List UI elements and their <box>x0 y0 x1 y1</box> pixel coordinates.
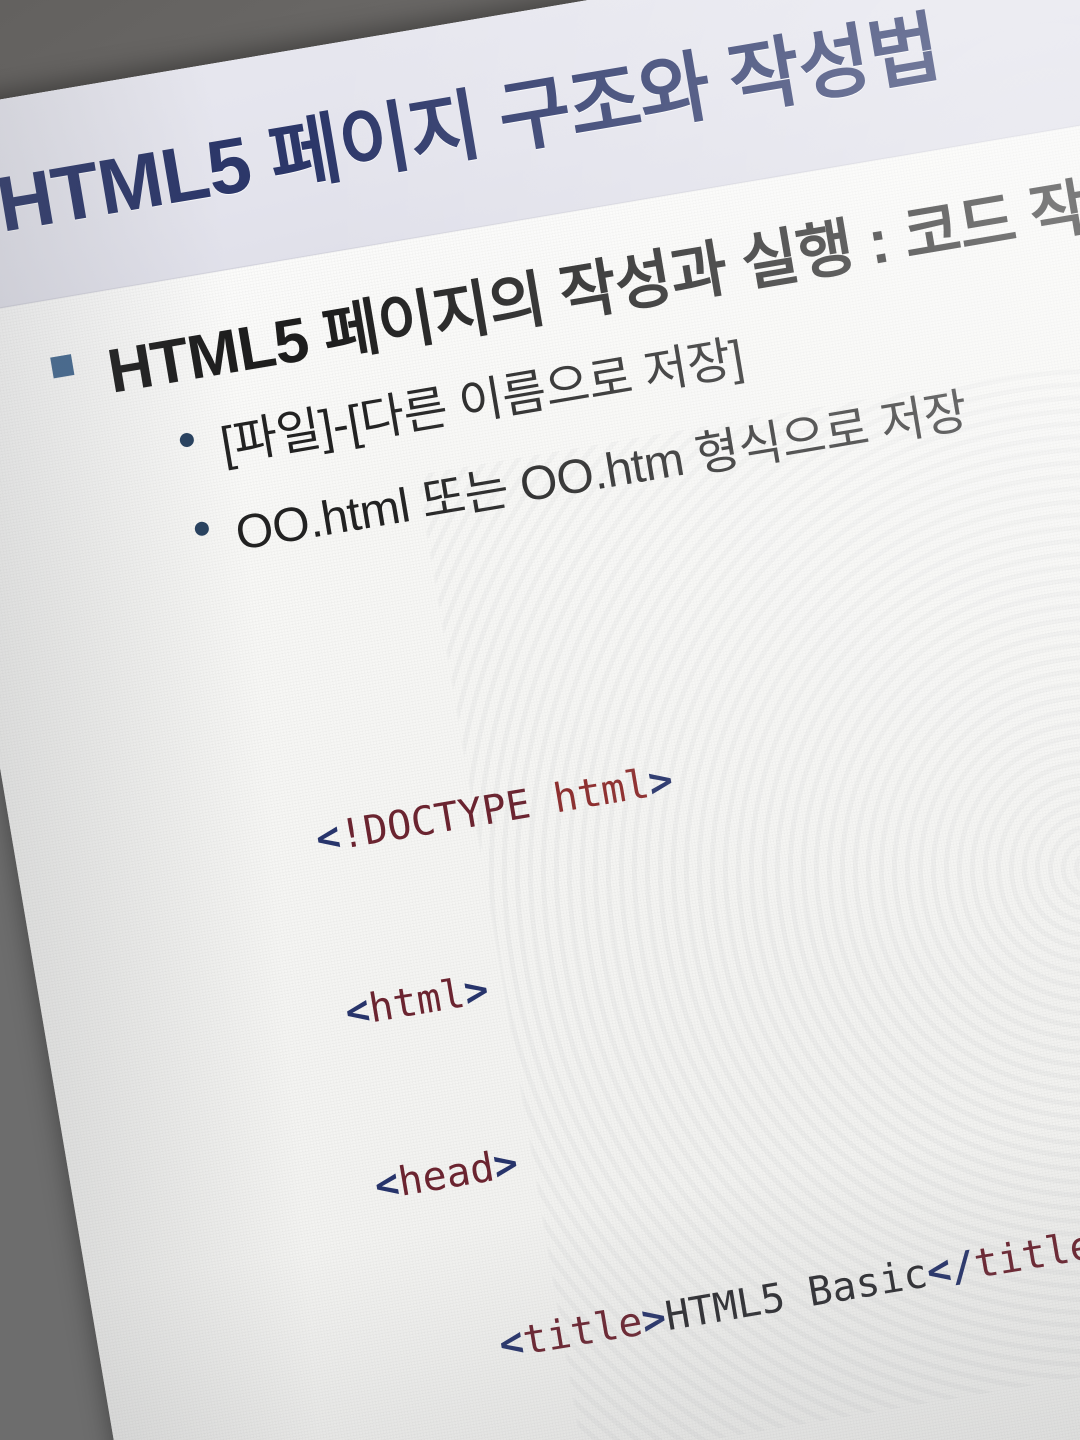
screen-surface: HTML5 페이지 구조와 작성법 HTML5 페이지의 작성과 실행 : 코드… <box>0 0 1080 1440</box>
code-doctype-attr: html <box>550 761 653 822</box>
code-line-head-open: <head> <box>370 1038 1080 1216</box>
code-line-head-close: </head> <box>429 1386 1080 1440</box>
code-title-content: HTML5 Basic <box>662 1250 931 1340</box>
code-line-doctype: <!DOCTYPE html> <box>311 691 1033 869</box>
dot-bullet-icon <box>179 432 195 448</box>
code-block: <!DOCTYPE html> <html> <head> <title>HTM… <box>292 575 1080 1440</box>
slide-body: HTML5 페이지의 작성과 실행 : 코드 작 [파일]-[다른 이름으로 저… <box>0 98 1080 1440</box>
photo-scene: HTML5 페이지 구조와 작성법 HTML5 페이지의 작성과 실행 : 코드… <box>0 0 1080 1440</box>
dot-bullet-icon <box>194 521 210 537</box>
code-line-title: <title>HTML5 Basic</title> <box>400 1212 1080 1390</box>
code-line-html-open: <html> <box>341 864 1063 1042</box>
square-bullet-icon <box>50 354 74 378</box>
code-doctype-keyword: !DOCTYPE <box>336 781 534 858</box>
projection-screen: HTML5 페이지 구조와 작성법 HTML5 페이지의 작성과 실행 : 코드… <box>0 0 1080 1440</box>
